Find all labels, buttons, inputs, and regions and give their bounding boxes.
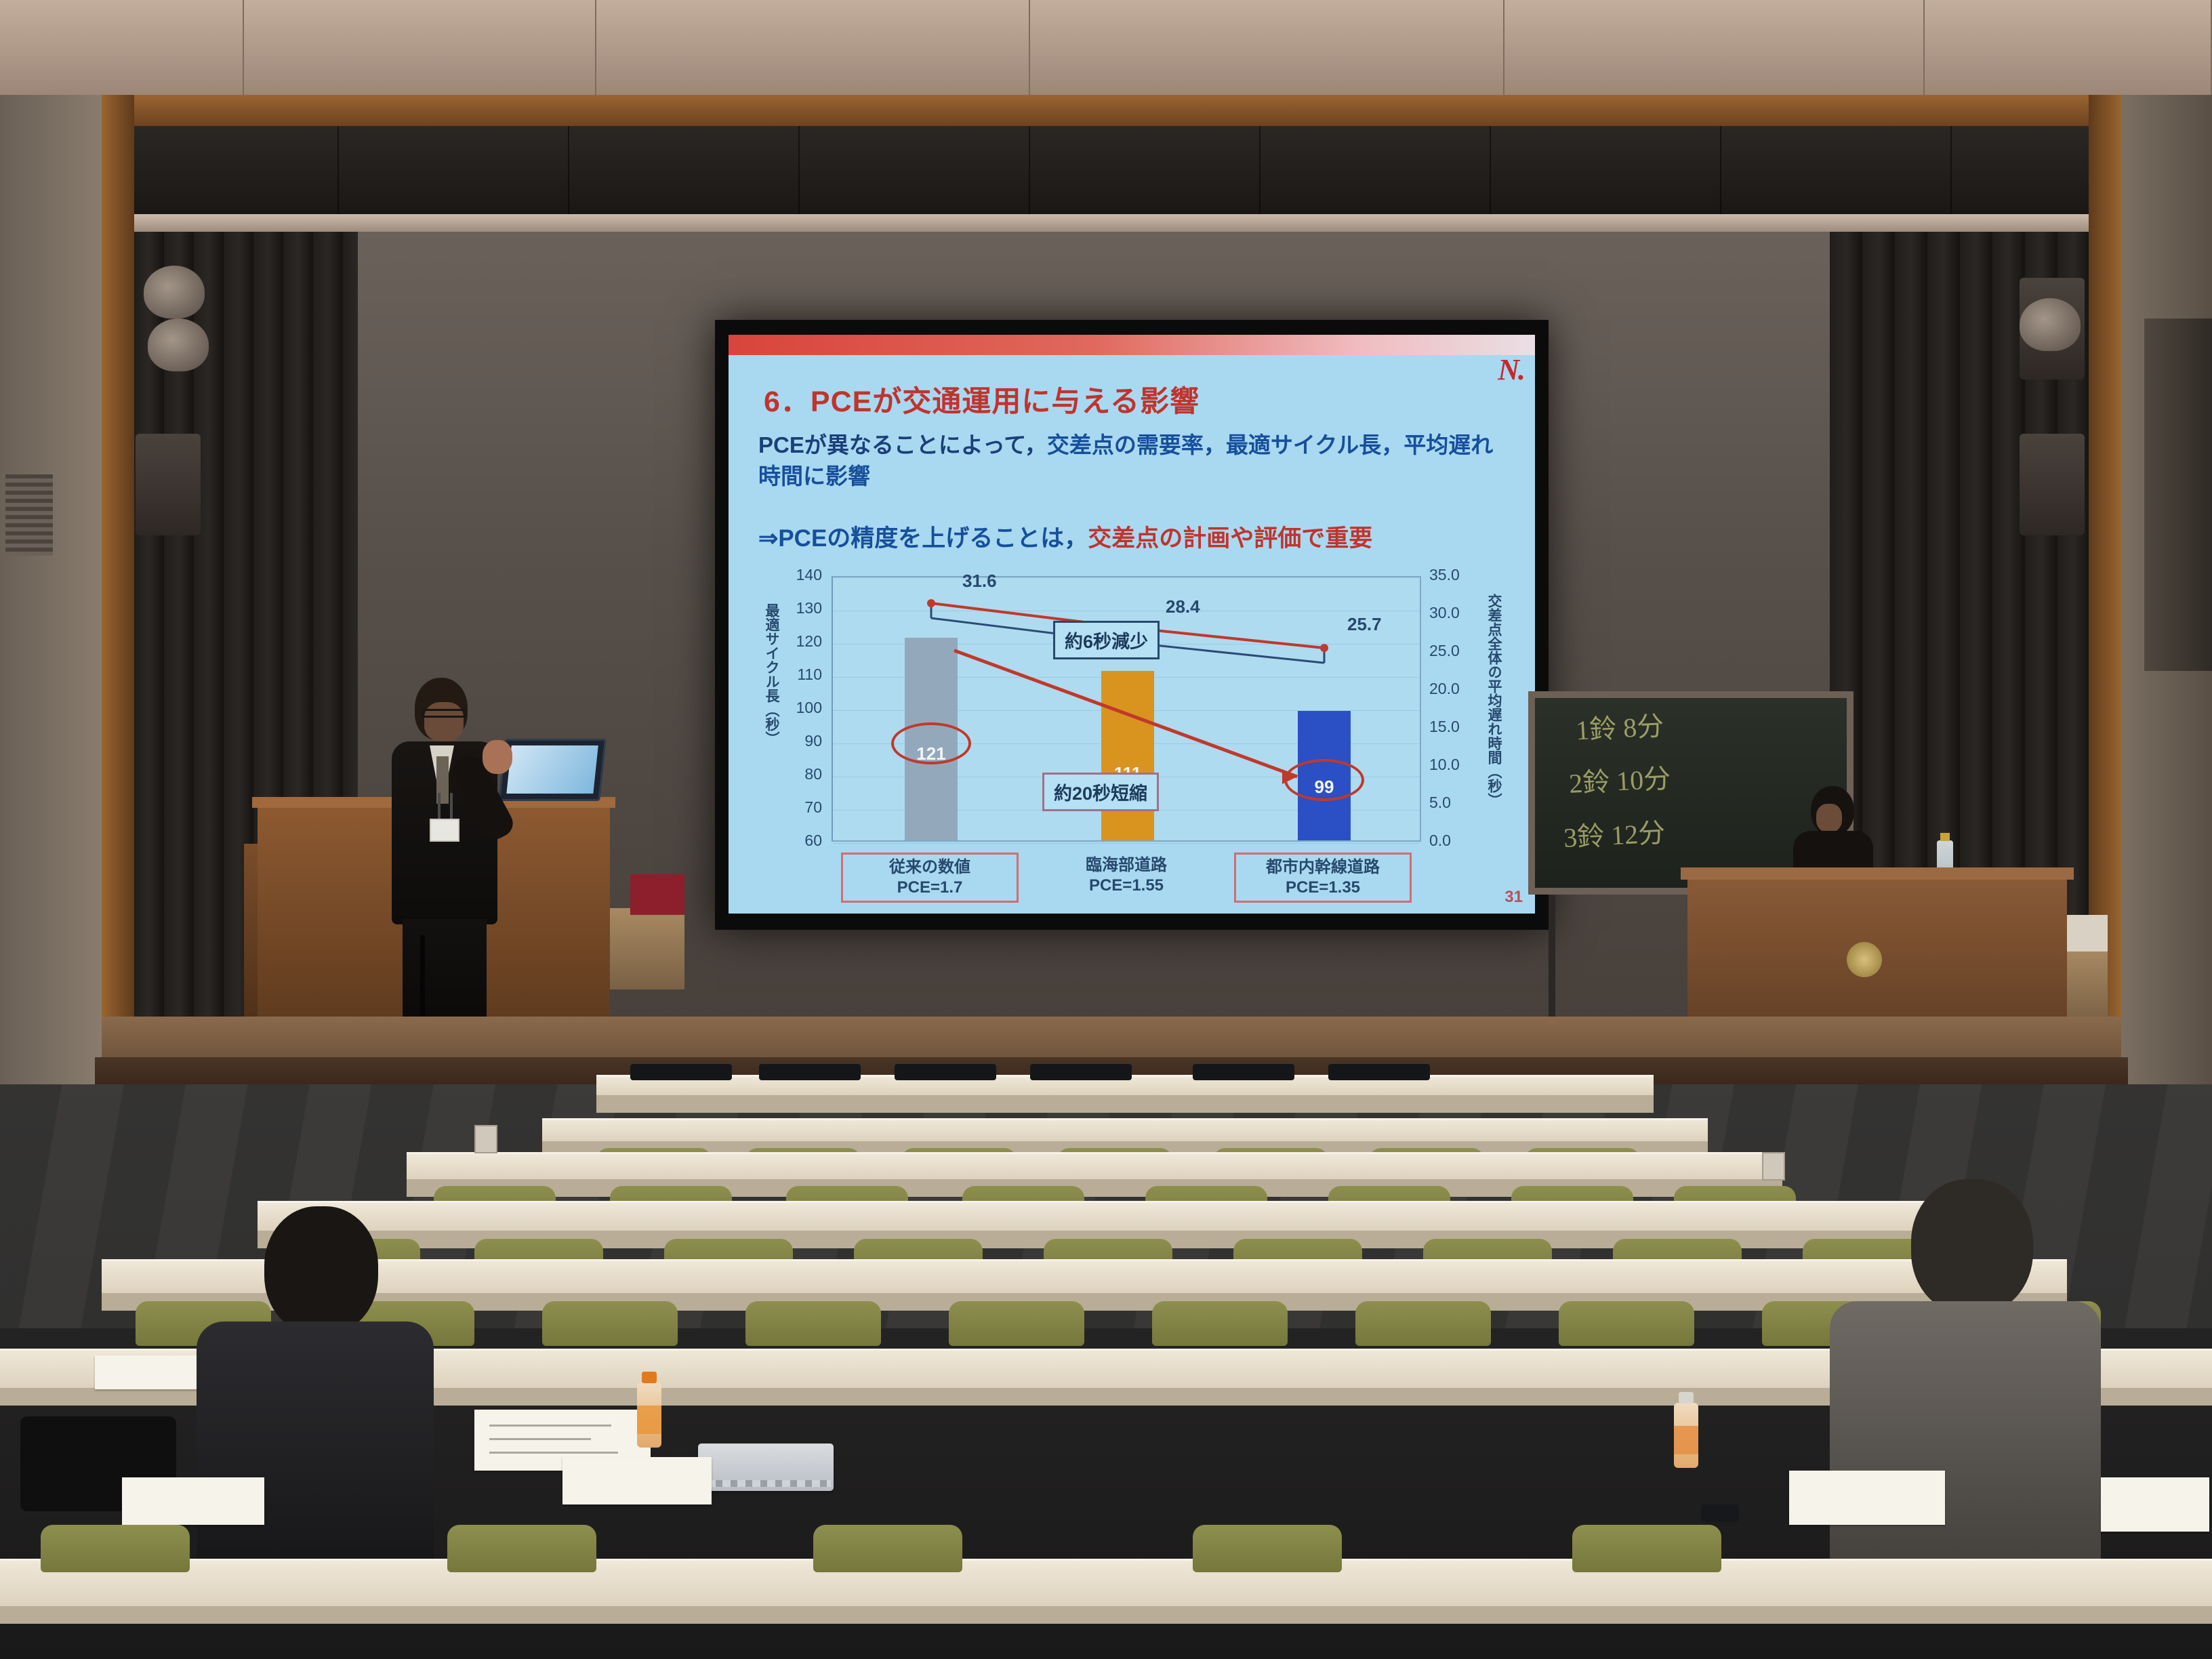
y-tick-label: 110 — [779, 665, 822, 684]
highlight-ellipse — [891, 722, 971, 764]
chair[interactable] — [1572, 1525, 1721, 1572]
presenter-face — [424, 702, 464, 741]
lecture-hall-scene: N. 6．PCEが交通運用に与える影響 PCEが異なることによって，交差点の需要… — [0, 0, 2212, 1659]
category-label: 従来の数値PCE=1.7 — [841, 853, 1019, 903]
chair[interactable] — [1193, 1525, 1342, 1572]
chair-row-far[interactable] — [1030, 1064, 1132, 1080]
power-outlet[interactable] — [474, 1125, 497, 1153]
y2-tick-label: 20.0 — [1429, 680, 1473, 698]
attendee-head — [264, 1206, 378, 1335]
y-tick-label: 90 — [779, 732, 822, 750]
ceiling-panel — [596, 0, 1030, 102]
papers — [2101, 1477, 2209, 1532]
ceiling-panel — [244, 0, 596, 102]
annotation-20sec: 約20秒短縮 — [1042, 773, 1159, 811]
category-label: 都市内幹線道路PCE=1.35 — [1234, 853, 1412, 903]
chair-row-far[interactable] — [759, 1064, 861, 1080]
y2-axis-title: 交差点全体の平均遅れ時間（秒） — [1483, 594, 1504, 838]
bottle-label — [637, 1406, 661, 1434]
stage-box — [610, 908, 684, 989]
y-tick-label: 80 — [779, 765, 822, 783]
attendee-front-right — [1830, 1179, 2101, 1599]
water-bottle — [1674, 1403, 1698, 1468]
name-badge — [430, 819, 459, 842]
stage-valance-curtain — [134, 126, 2089, 214]
proscenium-left-column — [102, 95, 134, 1057]
gridline — [833, 843, 1420, 844]
ceiling-panel — [1504, 0, 1925, 102]
attendee-body — [197, 1322, 434, 1593]
chair[interactable] — [542, 1301, 678, 1346]
blackboard-line: 1鈴 8分 — [1575, 704, 1665, 748]
category-name: 従来の数値 — [847, 857, 1012, 878]
bottle-cap — [1679, 1392, 1694, 1404]
laptop-ports — [701, 1480, 831, 1487]
paragraph-2-emph: 交差点の計画や評価で重要 — [1088, 525, 1372, 552]
stage-light-icon — [148, 319, 209, 371]
slide-content: 6．PCEが交通運用に与える影響 PCEが異なることによって，交差点の需要率，最… — [729, 355, 1535, 914]
desk-emblem-icon — [1847, 942, 1882, 977]
lanyard — [438, 793, 453, 821]
slide-paragraph-1: PCEが異なることによって，交差点の需要率，最適サイクル長，平均遅れ時間に影響 — [758, 430, 1511, 491]
annotation-6sec: 約6秒減少 — [1053, 621, 1160, 659]
wall-ledge — [134, 214, 2089, 232]
proscenium-top-beam — [102, 95, 2121, 126]
ceiling-panel — [1030, 0, 1504, 102]
stage-light-icon — [2020, 298, 2081, 351]
chair[interactable] — [813, 1525, 962, 1572]
y2-tick-label: 15.0 — [1429, 718, 1473, 736]
papers — [122, 1477, 264, 1525]
slide-title: 6．PCEが交通運用に与える影響 — [764, 378, 1200, 420]
speaker-left — [136, 434, 201, 535]
attendee-front-left — [190, 1206, 434, 1586]
stage-cushion — [630, 874, 684, 915]
bottle-cap — [642, 1372, 657, 1383]
chart: 最適サイクル長（秒） 交差点全体の平均遅れ時間（秒） 1401301201101… — [756, 571, 1507, 896]
desk-row — [407, 1152, 1782, 1179]
y-tick-label: 120 — [779, 632, 822, 651]
line-point-label: 28.4 — [1166, 596, 1200, 617]
chair-desk-top — [1681, 867, 2074, 880]
line-point-label: 31.6 — [962, 571, 997, 592]
chair[interactable] — [745, 1301, 881, 1346]
power-outlet[interactable] — [1762, 1152, 1785, 1181]
category-pce-value: PCE=1.55 — [1042, 876, 1211, 896]
tea-bottle — [637, 1382, 661, 1448]
y2-tick-label: 0.0 — [1429, 832, 1473, 850]
category-pce-value: PCE=1.35 — [1240, 878, 1406, 898]
category-pce-value: PCE=1.7 — [847, 878, 1012, 898]
plot-area: 1211119931.628.425.7約6秒減少約20秒短縮 — [832, 576, 1421, 842]
attendee-body — [1830, 1301, 2101, 1599]
desk-row — [0, 1559, 2212, 1606]
chair-row-far[interactable] — [1328, 1064, 1430, 1080]
y2-tick-label: 5.0 — [1429, 794, 1473, 812]
papers — [1789, 1471, 1945, 1525]
chair[interactable] — [447, 1525, 596, 1572]
chair-row-far[interactable] — [630, 1064, 732, 1080]
y-tick-label: 70 — [779, 798, 822, 817]
chair[interactable] — [1152, 1301, 1288, 1346]
chair[interactable] — [949, 1301, 1084, 1346]
presenter-laptop[interactable] — [498, 739, 607, 801]
slide-paragraph-2: ⇒PCEの精度を上げることは，交差点の計画や評価で重要 — [758, 519, 1372, 554]
chair[interactable] — [41, 1525, 190, 1572]
slide-surface: N. 6．PCEが交通運用に与える影響 PCEが異なることによって，交差点の需要… — [729, 335, 1535, 914]
chair[interactable] — [1559, 1301, 1694, 1346]
chair[interactable] — [1355, 1301, 1491, 1346]
proscenium-right-column — [2089, 95, 2121, 1057]
y-tick-label: 100 — [779, 699, 822, 717]
paragraph-1-plain: PCEが異なることによって， — [758, 432, 1047, 457]
slide-page-number: 31 — [1504, 888, 1523, 907]
presenter-leg-split — [420, 935, 425, 1030]
session-chair-person — [1789, 786, 1877, 874]
wall-vent — [5, 474, 53, 556]
attendee-head — [1911, 1179, 2033, 1315]
door-frame[interactable] — [2144, 319, 2212, 671]
chair-row-far[interactable] — [1193, 1064, 1294, 1080]
y2-tick-label: 10.0 — [1429, 756, 1473, 774]
y2-tick-label: 30.0 — [1429, 604, 1473, 622]
desk-row — [542, 1118, 1708, 1141]
chair-face — [1816, 804, 1842, 832]
line-point-label: 25.7 — [1347, 614, 1382, 635]
right-wall — [2121, 95, 2212, 1084]
slide-header-band — [729, 335, 1535, 355]
y2-tick-label: 35.0 — [1429, 566, 1473, 584]
glasses-icon — [422, 709, 466, 718]
papers — [562, 1457, 712, 1504]
blackboard-line: 3鈴 12分 — [1563, 811, 1666, 855]
y-tick-label: 130 — [779, 599, 822, 617]
y-tick-label: 140 — [779, 566, 822, 584]
highlight-ellipse — [1284, 759, 1364, 801]
speaker-right-lower — [2020, 434, 2085, 535]
projection-screen: N. 6．PCEが交通運用に与える影響 PCEが異なることによって，交差点の需要… — [715, 320, 1549, 930]
category-label: 臨海部道路PCE=1.55 — [1038, 853, 1215, 899]
category-name: 臨海部道路 — [1042, 855, 1211, 876]
ceiling-panel — [1925, 0, 2212, 102]
y-tick-label: 60 — [779, 832, 822, 850]
desk-row — [258, 1201, 1938, 1231]
left-wall — [0, 95, 102, 1084]
y2-tick-label: 25.0 — [1429, 642, 1473, 660]
attendee-laptop[interactable] — [698, 1443, 834, 1491]
chair-row-far[interactable] — [895, 1064, 996, 1080]
presenter — [380, 678, 508, 1037]
smartphone[interactable] — [1701, 1504, 1739, 1522]
ceiling-panel — [0, 0, 244, 102]
stage-light-icon — [144, 266, 205, 319]
paragraph-2-plain: ⇒PCEの精度を上げることは， — [758, 525, 1088, 552]
category-name: 都市内幹線道路 — [1240, 857, 1406, 878]
category-labels: 従来の数値PCE=1.7臨海部道路PCE=1.55都市内幹線道路PCE=1.35 — [832, 850, 1421, 899]
bottle-label — [1674, 1426, 1698, 1454]
presenter-hand — [483, 740, 512, 774]
blackboard-line: 2鈴 10分 — [1568, 756, 1672, 801]
laptop-screen — [506, 745, 598, 794]
